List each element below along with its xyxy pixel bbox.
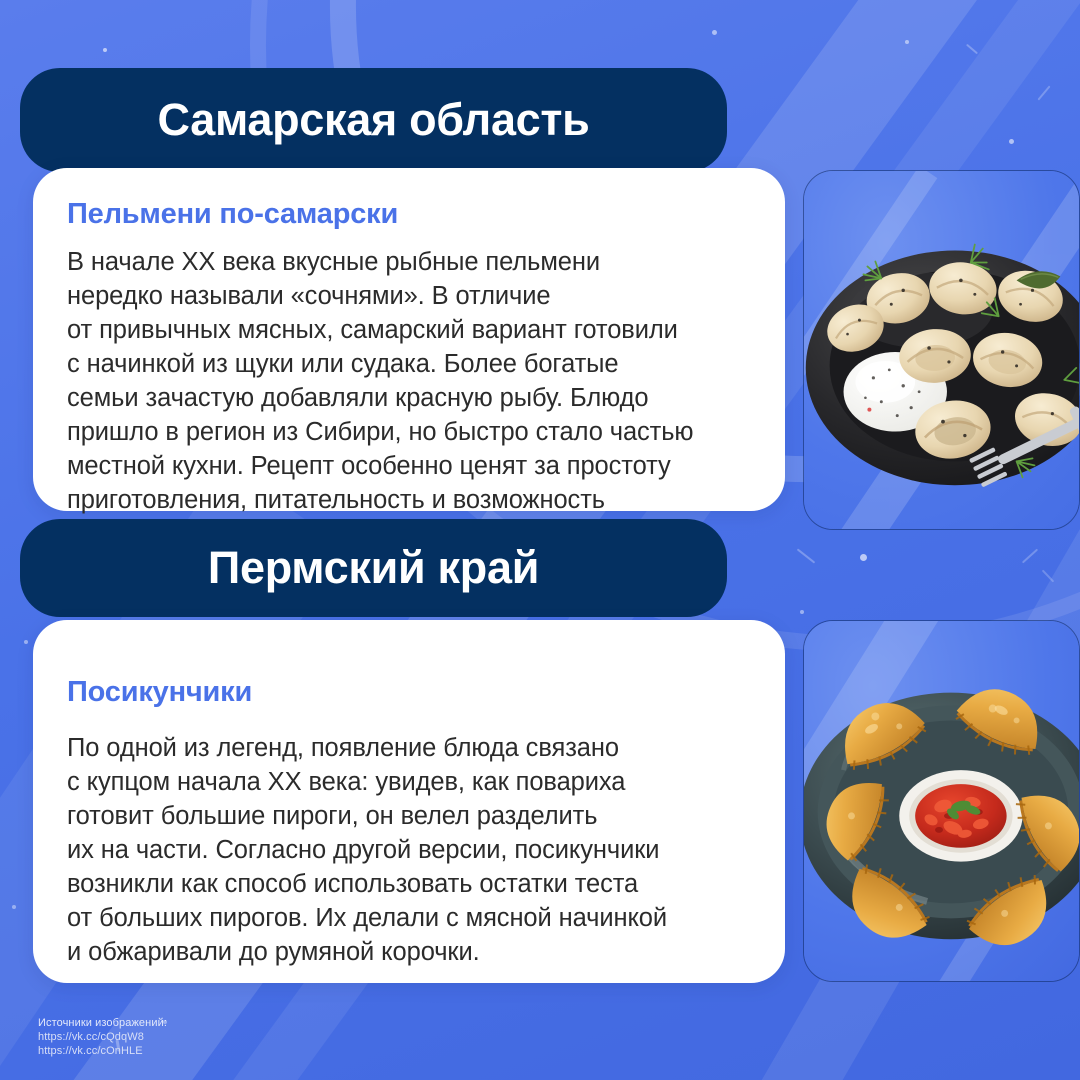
speckle [12, 905, 16, 909]
content-card-samara: Пельмени по-самарски В начале XX века вк… [33, 168, 785, 511]
dish-title-posikunchiki: Посикунчики [67, 676, 751, 709]
dish-title-pelmeni: Пельмени по-самарски [67, 198, 751, 231]
speckle [24, 640, 28, 644]
image-source-link-1[interactable]: https://vk.cc/cQdqW8 [38, 1030, 368, 1044]
infographic-canvas: Самарская область Пельмени по-самарски В… [0, 0, 1080, 1080]
photo-pelmeni [803, 170, 1080, 530]
photo-posikunchiki-illustration [804, 621, 1079, 981]
speckle [712, 30, 717, 35]
dish-description-posikunchiki: По одной из легенд, появление блюда связ… [67, 731, 751, 969]
speckle [905, 40, 909, 44]
image-source-link-2[interactable]: https://vk.cc/cOnHLE [38, 1044, 368, 1058]
dish-description-pelmeni: В начале XX века вкусные рыбные пельмени… [67, 245, 751, 551]
speckle [800, 610, 804, 614]
speckle [103, 48, 107, 52]
speckle [860, 554, 867, 561]
photo-pelmeni-illustration [804, 171, 1079, 529]
region-title-bar-perm: Пермский край [20, 519, 727, 617]
region-title-bar-samara: Самарская область [20, 68, 727, 172]
region-title-text: Пермский край [208, 542, 539, 594]
speckle [1009, 139, 1014, 144]
region-title-text: Самарская область [157, 94, 589, 146]
photo-posikunchiki [803, 620, 1080, 982]
content-card-perm: Посикунчики По одной из легенд, появлени… [33, 620, 785, 983]
image-sources-label: Источники изображений: [38, 1016, 368, 1030]
image-sources-footer: Источники изображений: https://vk.cc/cQd… [38, 1016, 368, 1058]
